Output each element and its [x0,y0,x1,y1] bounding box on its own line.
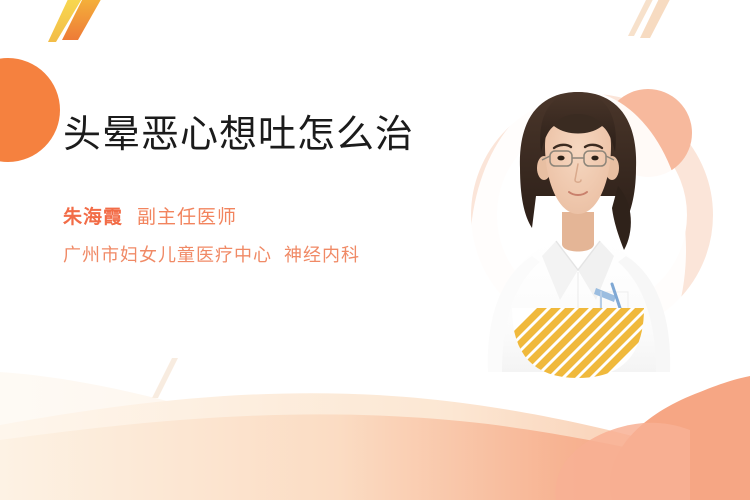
doctor-credential-line: 朱海霞副主任医师 [63,203,443,233]
text-block: 头晕恶心想吐怎么治 朱海霞副主任医师 广州市妇女儿童医疗中心神经内科 [63,112,443,269]
peach-circle-decoration [604,89,692,177]
doctor-name: 朱海霞 [63,207,123,228]
page-title: 头晕恶心想吐怎么治 [63,112,443,158]
doctor-professional-title: 副主任医师 [137,207,237,228]
department-name: 神经内科 [284,245,360,265]
doctor-affiliation-line: 广州市妇女儿童医疗中心神经内科 [63,241,443,269]
doctor-video-thumbnail-card: 头晕恶心想吐怎么治 朱海霞副主任医师 广州市妇女儿童医疗中心神经内科 [0,0,750,500]
hospital-name: 广州市妇女儿童医疗中心 [63,245,272,265]
